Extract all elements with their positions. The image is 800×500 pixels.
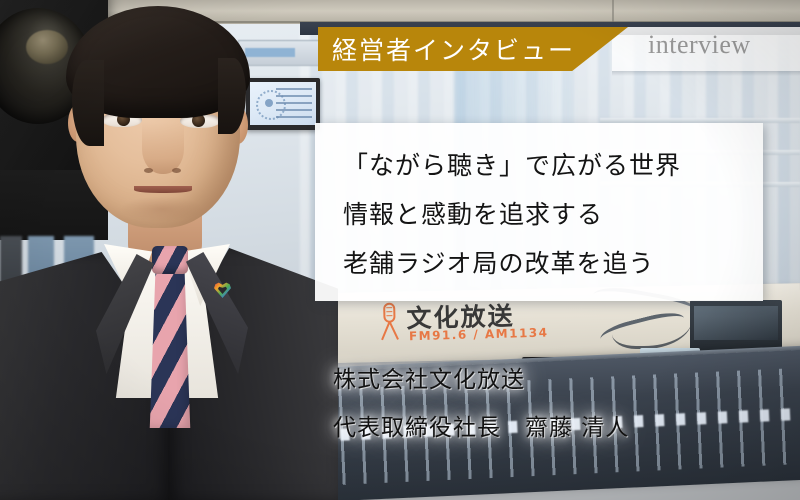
mouth bbox=[134, 186, 192, 193]
category-banner-label: 経営者インタビュー bbox=[318, 31, 575, 67]
ceiling-panel-seam bbox=[612, 0, 614, 24]
interview-en-label: interview bbox=[648, 30, 751, 60]
subject-portrait bbox=[0, 0, 330, 500]
caption-company: 株式会社文化放送 bbox=[333, 360, 525, 394]
equipment-rack-glass bbox=[694, 306, 778, 340]
chin-shadow bbox=[120, 196, 204, 222]
headline-line-2: 情報と感動を追求する bbox=[343, 195, 603, 231]
microphone-icon bbox=[378, 301, 401, 342]
interview-label-strip-shadow bbox=[612, 71, 800, 76]
caption-title-name: 代表取締役社長 齋藤 清人 bbox=[333, 408, 629, 442]
headline-line-3: 老舗ラジオ局の改革を追う bbox=[343, 244, 655, 280]
necktie-knot bbox=[152, 246, 188, 274]
nose bbox=[142, 122, 184, 174]
interview-hero-image: 文化放送 FM91.6 / AM1134 Rec1 Rec2 bbox=[0, 0, 800, 500]
headline-panel: 「ながら聴き」で広がる世界 情報と感動を追求する 老舗ラジオ局の改革を追う bbox=[315, 123, 763, 301]
headline-line-1: 「ながら聴き」で広がる世界 bbox=[343, 146, 681, 182]
nostril bbox=[144, 168, 153, 173]
nostril bbox=[172, 168, 181, 173]
